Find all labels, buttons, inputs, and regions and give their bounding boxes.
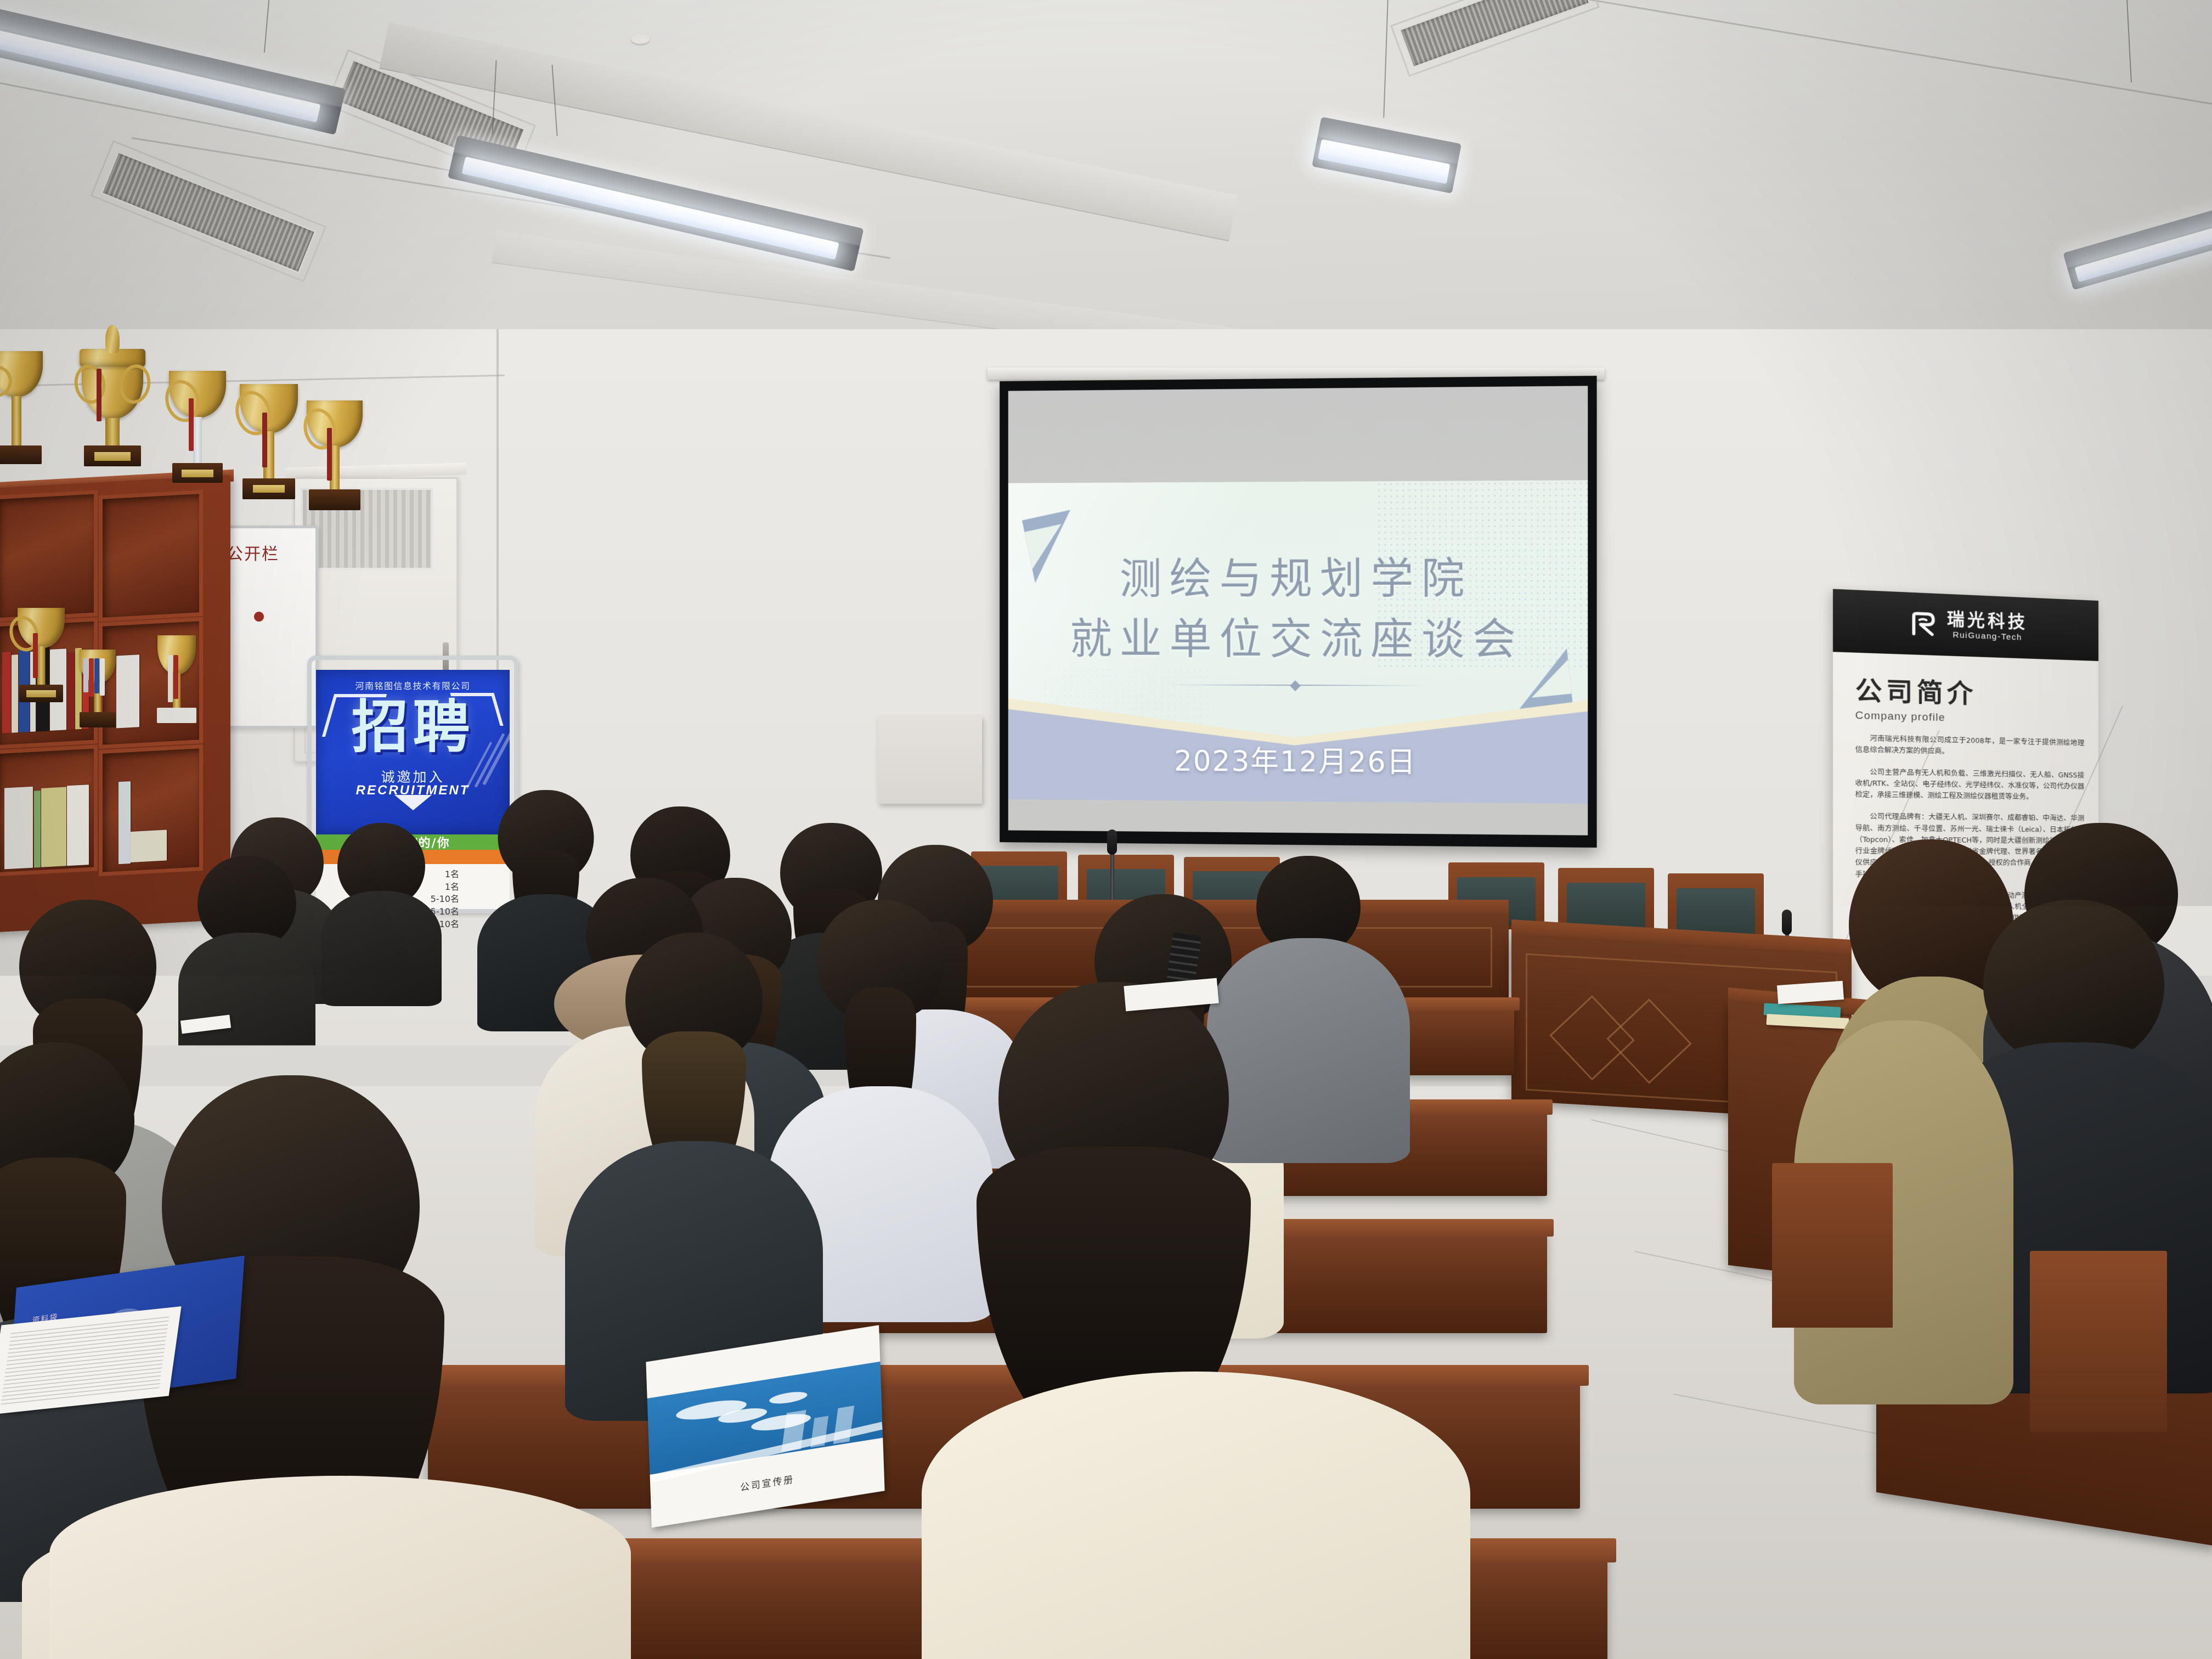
magnet-red-icon[interactable] (254, 612, 264, 622)
projection-screen: 测绘与规划学院 就业单位交流座谈会 2023年12月26日 (1000, 376, 1596, 848)
podium-mic-head-2 (1782, 910, 1792, 935)
wall-electrical-box (878, 716, 982, 804)
slide-title-block: 测绘与规划学院 就业单位交流座谈会 (1008, 548, 1588, 671)
foreground-center-coat (922, 1372, 1470, 1659)
recruitment-poster: 河南铭图信息技术有限公司 招聘 诚邀加入 RECRUITMENT (316, 670, 510, 834)
seminar-room-photo: 公开栏 (0, 0, 2212, 1659)
right-chair-2[interactable] (2030, 1251, 2167, 1432)
slide-divider-diamond-icon (1290, 680, 1301, 691)
banner-heading-cn: 公司简介 (1855, 670, 2085, 714)
ceiling-light-3 (1312, 117, 1462, 194)
hvac-vent-3 (1398, 0, 1590, 69)
banner-paragraph-1: 河南瑞光科技有限公司成立于2008年，是一家专注于提供测绘地理信息综合解决方案的… (1855, 732, 2085, 760)
presentation-slide: 测绘与规划学院 就业单位交流座谈会 2023年12月26日 (1008, 480, 1588, 804)
attendee-back-2 (324, 823, 439, 1004)
whiteboard-label: 公开栏 (227, 540, 319, 565)
trophy-6 (11, 608, 71, 729)
ceiling-light-1 (0, 0, 346, 135)
poster-headline: 招聘 (316, 698, 510, 755)
poster-chevron-icon (394, 795, 432, 810)
public-notice-whiteboard[interactable]: 公开栏 (219, 526, 318, 729)
slide-title-line-2: 就业单位交流座谈会 (1008, 610, 1588, 671)
podium-mic-head-1 (1107, 830, 1117, 855)
ruiguang-logo-icon (1908, 608, 1938, 639)
smoke-detector-icon (631, 34, 650, 44)
foreground-left-coat (49, 1476, 631, 1659)
slide-date: 2023年12月26日 (1008, 737, 1588, 781)
slide-title-line-1: 测绘与规划学院 (1008, 548, 1588, 610)
brochure-sky-image (647, 1362, 883, 1475)
banner-logo-en: RuiGuang-Tech (1947, 630, 2028, 642)
right-chair-1[interactable] (1772, 1163, 1893, 1328)
banner-logo-header: 瑞光科技 RuiGuang-Tech (1833, 589, 2098, 661)
trophy-7 (70, 642, 125, 752)
trophy-1 (0, 351, 49, 488)
trophy-2 (71, 335, 154, 494)
poster-company-name: 河南铭图信息技术有限公司 (316, 679, 510, 692)
trophy-8 (149, 635, 204, 751)
trophy-3 (165, 368, 230, 510)
trophy-4 (236, 379, 302, 527)
banner-logo-cn: 瑞光科技 (1947, 611, 2028, 632)
ceiling-light-4 (2063, 190, 2212, 290)
trophy-5 (302, 395, 368, 538)
banner-paragraph-2: 公司主营产品有无人机和负载、三维激光扫描仪、无人船、GNSS接收机/RTK、全站… (1855, 766, 2085, 803)
